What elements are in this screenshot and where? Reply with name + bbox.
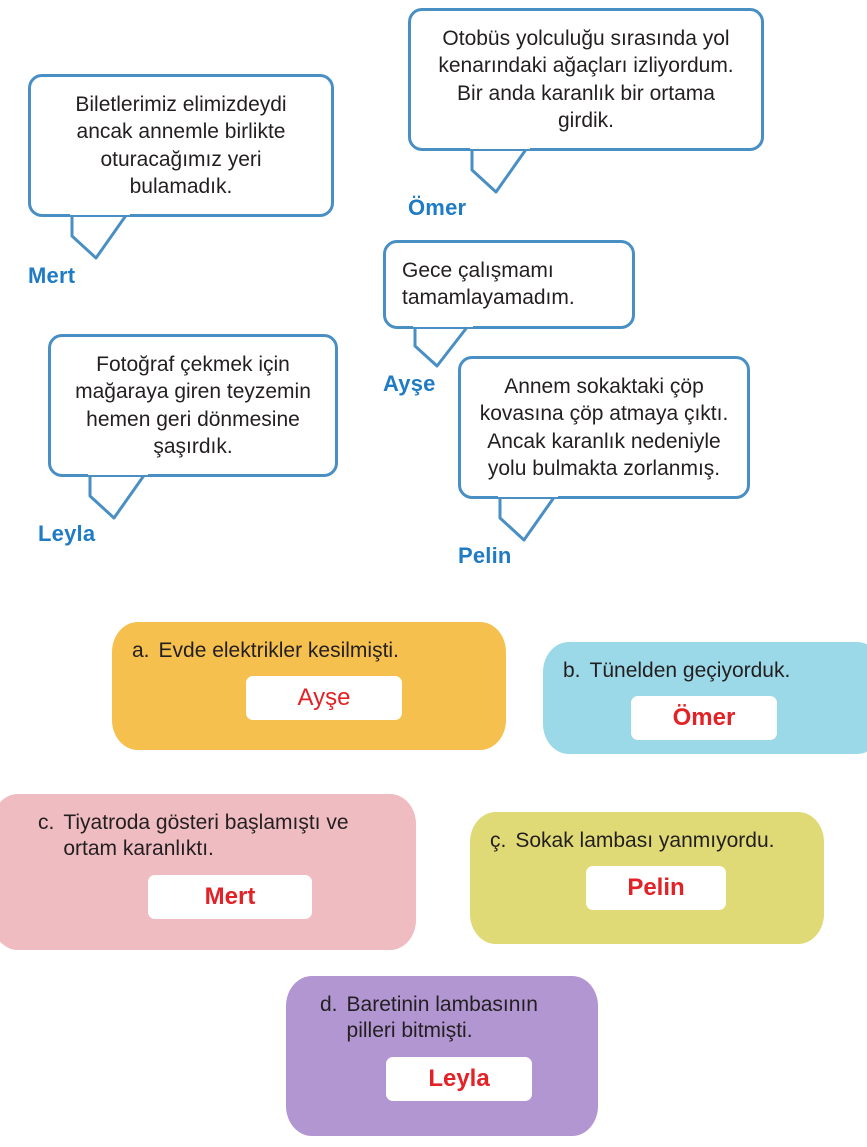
answer-card-d-text: Baretinin lambasının pilleri bitmişti.: [347, 992, 578, 1045]
speech-bubble-leyla: Fotoğraf çekmek için mağaraya giren teyz…: [48, 334, 338, 477]
answer-card-b-answer-box[interactable]: Ömer: [631, 696, 777, 740]
speech-bubble-text-omer: Otobüs yolculuğu sırasında yol kenarında…: [438, 27, 733, 132]
answer-card-c-cedilla-marker: ç.: [490, 828, 506, 854]
answer-card-b-text: Tünelden geçiyorduk.: [590, 658, 791, 684]
answer-card-c-answer-box[interactable]: Mert: [148, 875, 312, 919]
answer-card-c[interactable]: c. Tiyatroda gösteri başlamıştı ve ortam…: [0, 794, 416, 950]
answer-card-b-marker: b.: [563, 658, 581, 684]
speech-bubble-omer: Otobüs yolculuğu sırasında yol kenarında…: [408, 8, 764, 151]
answer-card-c-statement: c. Tiyatroda gösteri başlamıştı ve ortam…: [12, 810, 396, 863]
answer-card-b-answer: Ömer: [673, 704, 736, 732]
speaker-label-mert: Mert: [28, 263, 334, 289]
answer-card-d-answer: Leyla: [428, 1065, 489, 1093]
speech-bubble-ayse: Gece çalışmamı tamamlayamadım.: [383, 240, 635, 329]
answer-card-b[interactable]: b. Tünelden geçiyorduk. Ömer: [543, 642, 867, 754]
answer-card-d[interactable]: d. Baretinin lambasının pilleri bitmişti…: [286, 976, 598, 1136]
answer-card-c-text: Tiyatroda gösteri başlamıştı ve ortam ka…: [63, 810, 396, 863]
speech-bubble-tail-omer: [469, 148, 527, 190]
answer-card-c-cedilla-answer: Pelin: [627, 874, 684, 902]
speech-bubble-text-leyla: Fotoğraf çekmek için mağaraya giren teyz…: [75, 353, 311, 458]
speaker-label-pelin: Pelin: [458, 543, 750, 569]
answer-card-a-answer: Ayşe: [298, 684, 351, 712]
answer-card-c-cedilla-statement: ç. Sokak lambası yanmıyordu.: [490, 828, 804, 854]
speech-bubble-group-leyla: Fotoğraf çekmek için mağaraya giren teyz…: [48, 334, 338, 547]
answer-card-d-statement: d. Baretinin lambasının pilleri bitmişti…: [306, 992, 578, 1045]
speaker-label-omer: Ömer: [408, 195, 764, 221]
speech-bubble-text-mert: Biletlerimiz elimizdeydi ancak annemle b…: [75, 93, 286, 198]
answer-card-c-marker: c.: [38, 810, 54, 863]
answer-card-c-cedilla-text: Sokak lambası yanmıyordu.: [515, 828, 774, 854]
speech-bubble-tail-mert: [69, 214, 127, 256]
speech-bubble-tail-leyla: [87, 474, 145, 516]
answer-card-a-marker: a.: [132, 638, 150, 664]
speech-bubble-group-pelin: Annem sokaktaki çöp kovasına çöp atmaya …: [458, 356, 750, 569]
answer-card-c-answer: Mert: [205, 883, 256, 911]
answer-card-a[interactable]: a. Evde elektrikler kesilmişti. Ayşe: [112, 622, 506, 750]
speech-bubble-mert: Biletlerimiz elimizdeydi ancak annemle b…: [28, 74, 334, 217]
answer-card-c-cedilla-answer-box[interactable]: Pelin: [586, 866, 726, 910]
answer-card-b-statement: b. Tünelden geçiyorduk.: [563, 658, 863, 684]
answer-card-d-marker: d.: [320, 992, 338, 1045]
answer-card-c-cedilla[interactable]: ç. Sokak lambası yanmıyordu. Pelin: [470, 812, 824, 944]
speech-bubble-pelin: Annem sokaktaki çöp kovasına çöp atmaya …: [458, 356, 750, 499]
answer-card-d-answer-box[interactable]: Leyla: [386, 1057, 532, 1101]
speech-bubble-text-ayse: Gece çalışmamı tamamlayamadım.: [402, 259, 575, 309]
speech-bubble-group-mert: Biletlerimiz elimizdeydi ancak annemle b…: [28, 74, 334, 289]
speech-bubble-tail-pelin: [497, 496, 555, 538]
answer-card-a-answer-box[interactable]: Ayşe: [246, 676, 402, 720]
speech-bubble-text-pelin: Annem sokaktaki çöp kovasına çöp atmaya …: [480, 375, 729, 480]
speech-bubble-group-omer: Otobüs yolculuğu sırasında yol kenarında…: [408, 8, 764, 221]
answer-card-a-statement: a. Evde elektrikler kesilmişti.: [132, 638, 486, 664]
speaker-label-leyla: Leyla: [38, 521, 338, 547]
answer-card-a-text: Evde elektrikler kesilmişti.: [159, 638, 399, 664]
